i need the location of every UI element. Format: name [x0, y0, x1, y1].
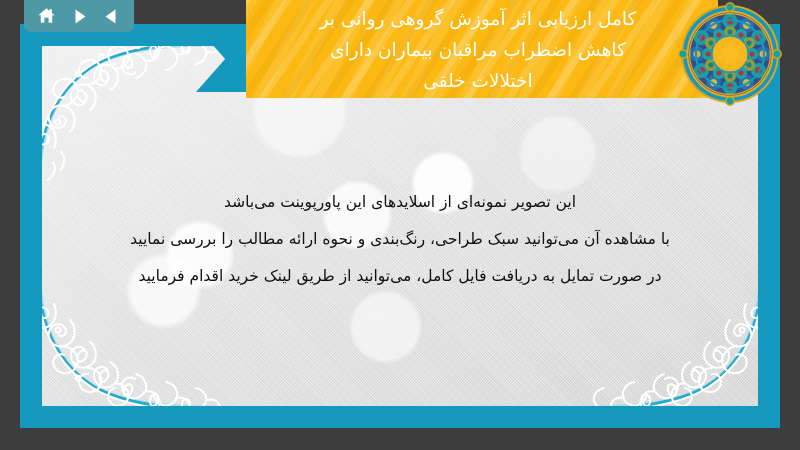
persian-mandala-medallion — [678, 2, 782, 106]
home-icon — [37, 7, 56, 25]
arabesque-corner-ornament-top-left — [42, 46, 230, 194]
slide-content-area: این تصویر نمونه‌ای از اسلایدهای این پاور… — [42, 46, 758, 406]
slide-body-text: این تصویر نمونه‌ای از اسلایدهای این پاور… — [42, 184, 758, 295]
previous-slide-button[interactable] — [99, 5, 125, 27]
slide-card: این تصویر نمونه‌ای از اسلایدهای این پاور… — [20, 24, 780, 428]
body-line-3: در صورت تمایل به دریافت فایل کامل، می‌تو… — [42, 258, 758, 295]
body-line-1: این تصویر نمونه‌ای از اسلایدهای این پاور… — [42, 184, 758, 221]
home-button[interactable] — [33, 5, 59, 27]
slide-viewer: این تصویر نمونه‌ای از اسلایدهای این پاور… — [0, 0, 800, 450]
slide-navigation-bar — [24, 0, 134, 32]
triangle-right-icon — [71, 8, 88, 25]
body-line-2: با مشاهده آن می‌توانید سبک طراحی، رنگ‌بن… — [42, 221, 758, 258]
eight-point-star — [711, 35, 749, 73]
next-slide-button[interactable] — [66, 5, 92, 27]
triangle-left-icon — [103, 8, 120, 25]
